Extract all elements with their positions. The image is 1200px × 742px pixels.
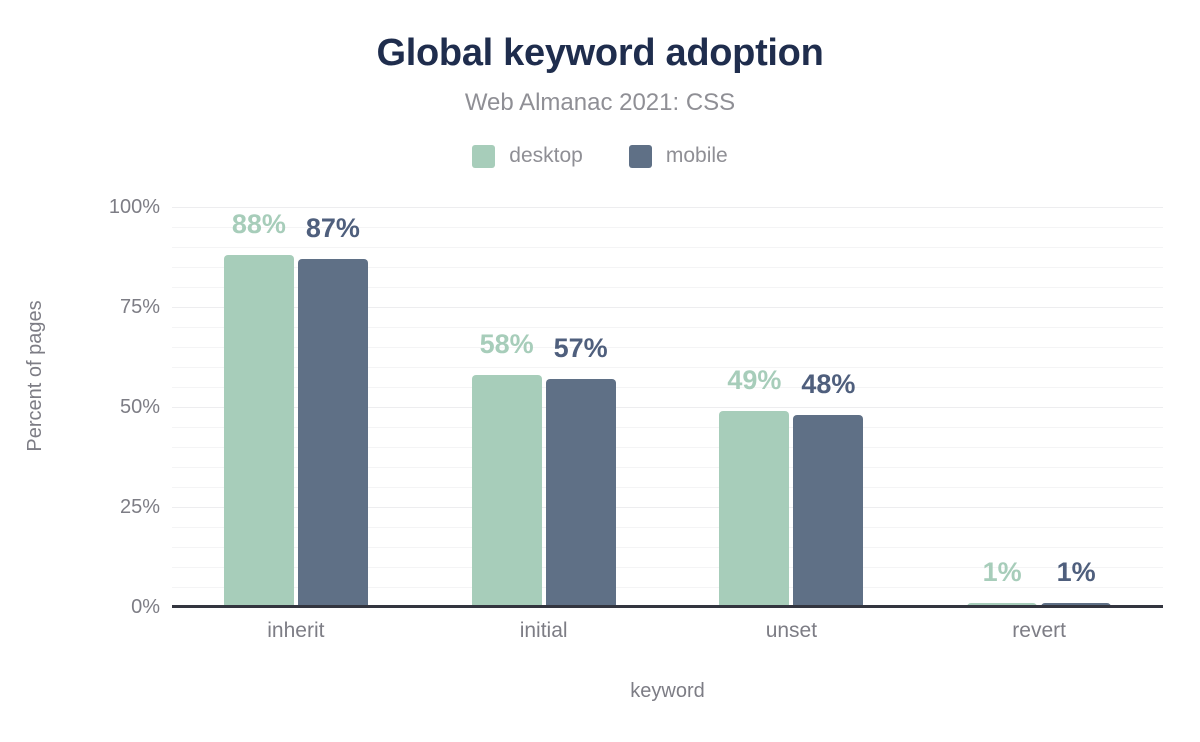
y-tick-label: 0% (80, 597, 160, 617)
bar-value-label-mobile-initial: 57% (536, 333, 626, 363)
x-axis-title: keyword (172, 679, 1163, 703)
y-tick-label: 50% (80, 397, 160, 417)
bar-value-label-mobile-unset: 48% (783, 369, 873, 399)
x-tick-label-revert: revert (915, 618, 1163, 644)
plot-wrapper: 88%87%58%57%49%48%1%1% 0%25%50%75%100% i… (0, 0, 1200, 742)
x-tick-label-initial: initial (420, 618, 668, 644)
x-tick-label-unset: unset (668, 618, 916, 644)
bar-desktop-initial[interactable] (472, 375, 542, 607)
bar-mobile-initial[interactable] (546, 379, 616, 607)
plot-area: 88%87%58%57%49%48%1%1% (172, 207, 1163, 607)
bar-mobile-inherit[interactable] (298, 259, 368, 607)
bar-value-label-mobile-revert: 1% (1031, 557, 1121, 587)
chart-container: Global keyword adoption Web Almanac 2021… (0, 0, 1200, 742)
gridline (172, 247, 1163, 248)
bar-desktop-inherit[interactable] (224, 255, 294, 607)
y-tick-label: 100% (80, 197, 160, 217)
x-tick-label-inherit: inherit (172, 618, 420, 644)
x-axis-line (172, 605, 1163, 608)
bar-mobile-unset[interactable] (793, 415, 863, 607)
bar-desktop-unset[interactable] (719, 411, 789, 607)
bar-value-label-mobile-inherit: 87% (288, 213, 378, 243)
y-tick-label: 25% (80, 497, 160, 517)
y-axis-title: Percent of pages (23, 276, 47, 476)
gridline (172, 207, 1163, 208)
y-tick-label: 75% (80, 297, 160, 317)
